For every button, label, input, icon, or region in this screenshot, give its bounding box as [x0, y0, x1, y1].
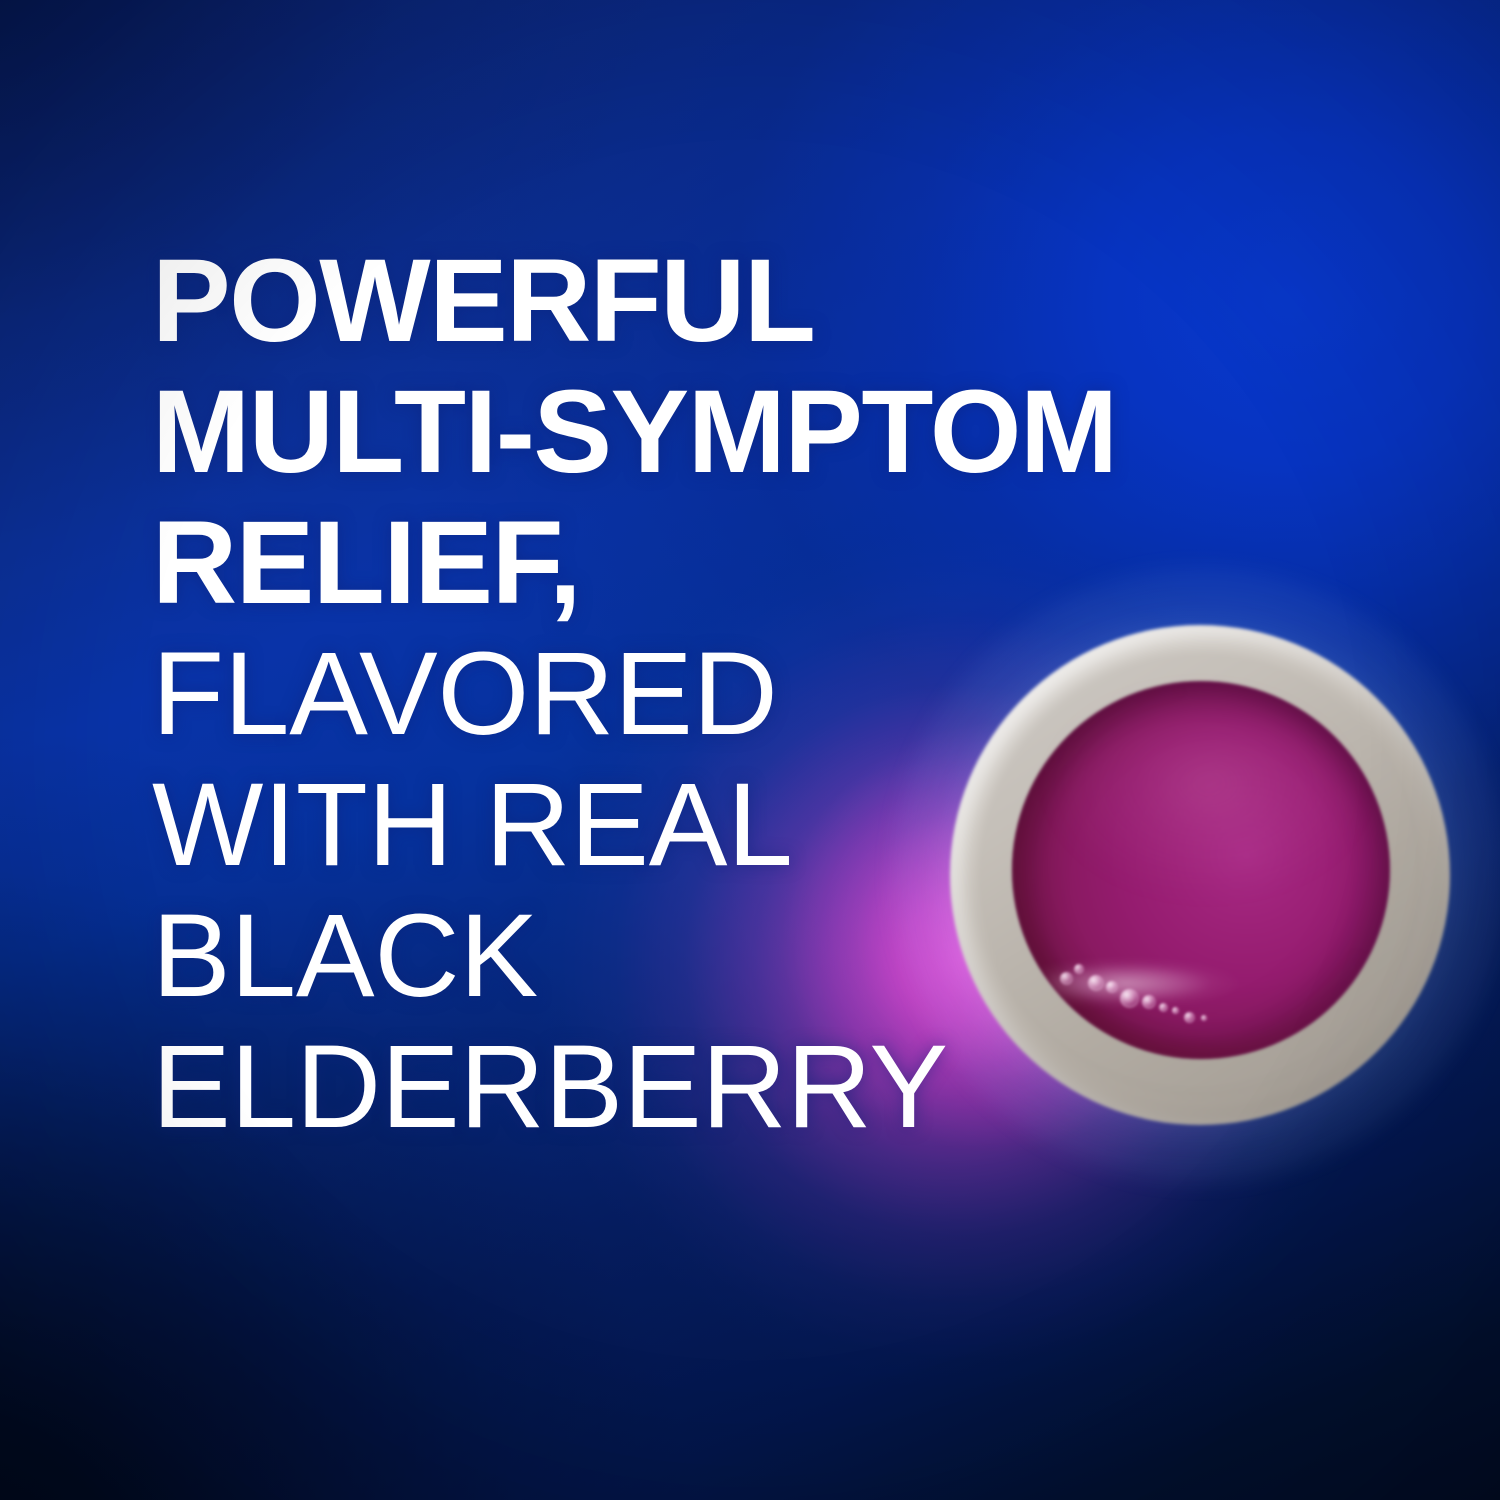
headline-line-2: MULTI-SYMPTOM — [152, 367, 1272, 498]
marketing-panel: POWERFUL MULTI-SYMPTOM RELIEF, FLAVORED … — [0, 0, 1500, 1500]
headline-line-4: FLAVORED — [152, 629, 1272, 760]
headline-line-3: RELIEF, — [152, 498, 1272, 629]
headline-block: POWERFUL MULTI-SYMPTOM RELIEF, FLAVORED … — [152, 236, 1272, 1153]
headline-line-1: POWERFUL — [152, 236, 1272, 367]
headline-line-5: WITH REAL — [152, 760, 1272, 891]
headline-line-7: ELDERBERRY — [152, 1022, 1272, 1153]
headline-line-6: BLACK — [152, 891, 1272, 1022]
